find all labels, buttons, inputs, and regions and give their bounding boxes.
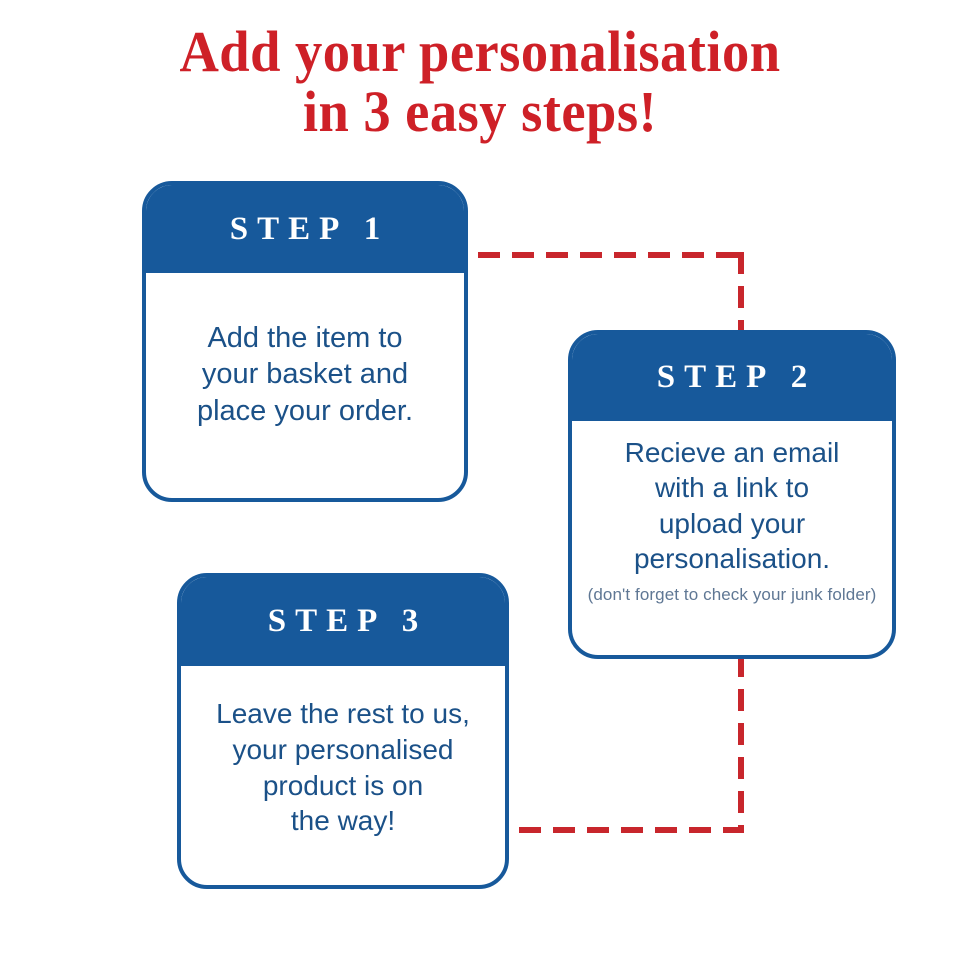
step-1-body: Add the item to your basket and place yo… (146, 273, 464, 498)
connector-horizontal-segment (519, 827, 744, 833)
step-2-body-text: Recieve an email with a link to upload y… (625, 435, 840, 576)
page-title: Add your personalisation in 3 easy steps… (29, 22, 931, 141)
step-2-header: STEP 2 (572, 334, 892, 421)
page-title-line-2: in 3 easy steps! (29, 82, 931, 142)
step-2-note-text: (don't forget to check your junk folder) (588, 585, 877, 605)
step-3-header: STEP 3 (181, 577, 505, 666)
step-card-2: STEP 2 Recieve an email with a link to u… (568, 330, 896, 659)
step-3-body: Leave the rest to us, your personalised … (181, 666, 505, 885)
connector-horizontal-segment (478, 252, 744, 258)
connector-vertical-segment (738, 655, 744, 833)
step-1-header: STEP 1 (146, 185, 464, 273)
infographic-canvas: Add your personalisation in 3 easy steps… (0, 0, 960, 960)
step-2-body: Recieve an email with a link to upload y… (572, 421, 892, 655)
step-card-3: STEP 3 Leave the rest to us, your person… (177, 573, 509, 889)
connector-vertical-segment (738, 252, 744, 336)
step-1-body-text: Add the item to your basket and place yo… (197, 320, 413, 429)
step-3-body-text: Leave the rest to us, your personalised … (216, 696, 470, 838)
step-card-1: STEP 1 Add the item to your basket and p… (142, 181, 468, 502)
page-title-line-1: Add your personalisation (29, 22, 931, 82)
